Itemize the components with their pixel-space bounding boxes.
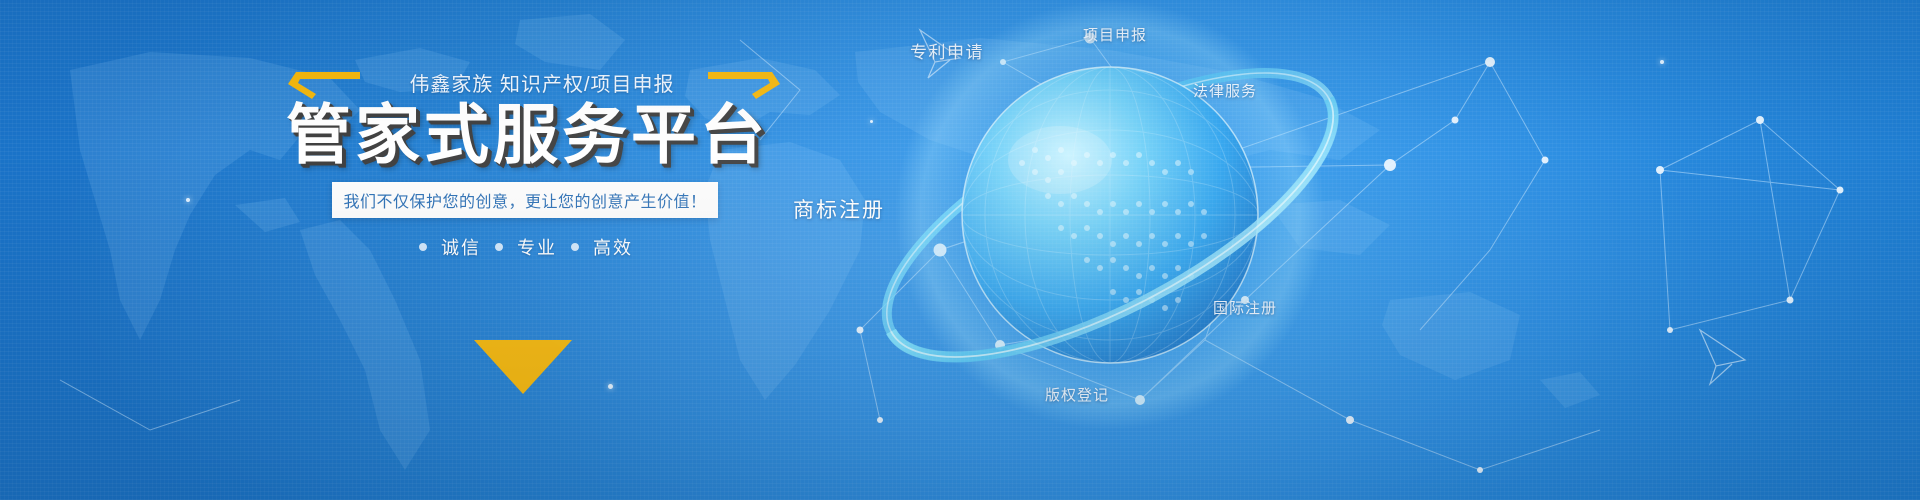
sparkle-dot <box>1660 60 1664 64</box>
keyword-list: 诚信 专业 高效 <box>286 234 766 260</box>
node-label-copyright-registration: 版权登记 <box>1045 384 1109 405</box>
bullet-dot-icon <box>571 243 579 251</box>
bullet-dot-icon <box>419 243 427 251</box>
keyword-item: 高效 <box>593 234 633 260</box>
chevron-left-icon <box>286 70 362 100</box>
tagline-box: 我们不仅保护您的创意，更让您的创意产生价值！ <box>332 182 718 218</box>
triangle-down-icon <box>472 338 574 396</box>
node-label-trademark-registration: 商标注册 <box>793 194 885 224</box>
eyebrow-row: 伟鑫家族 知识产权/项目申报 <box>286 64 786 98</box>
hero-banner: 伟鑫家族 知识产权/项目申报 管家式服务平台 我们不仅保护您的创意，更让您的创意… <box>0 0 1920 500</box>
keyword-item: 专业 <box>517 234 557 260</box>
tagline-text: 我们不仅保护您的创意，更让您的创意产生价值！ <box>343 188 706 212</box>
node-label-patent-application: 专利申请 <box>910 38 984 63</box>
node-label-project-declaration: 项目申报 <box>1083 24 1147 45</box>
node-label-international-registration: 国际注册 <box>1213 297 1277 318</box>
sparkle-dot <box>870 120 873 123</box>
sparkle-dot <box>608 384 613 389</box>
bullet-dot-icon <box>495 243 503 251</box>
sparkle-dot <box>186 198 190 202</box>
keyword-item: 诚信 <box>441 234 481 260</box>
node-label-legal-service: 法律服务 <box>1193 80 1257 101</box>
page-title: 管家式服务平台 <box>286 102 766 168</box>
brand-eyebrow: 伟鑫家族 知识产权/项目申报 <box>382 68 702 97</box>
banner-copy-block: 伟鑫家族 知识产权/项目申报 管家式服务平台 我们不仅保护您的创意，更让您的创意… <box>286 64 786 324</box>
chevron-right-icon <box>706 70 782 100</box>
